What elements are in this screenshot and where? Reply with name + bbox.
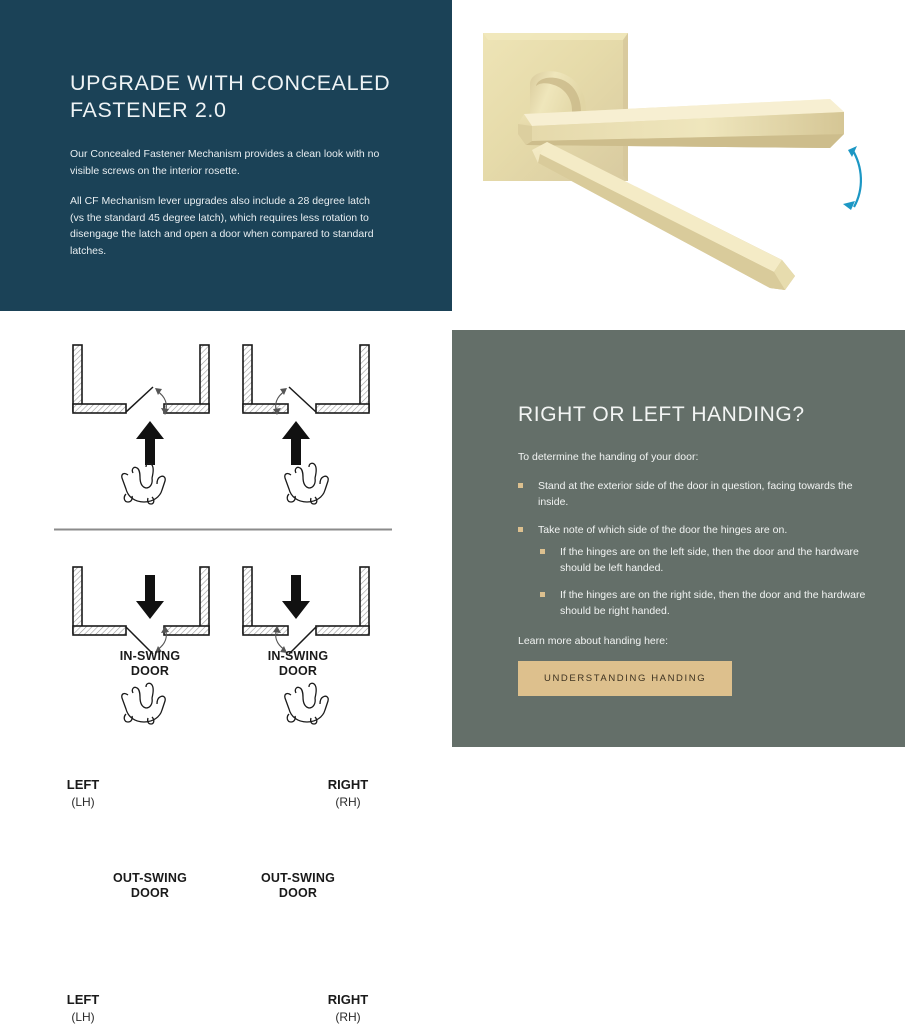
handle-photo-panel: 28° <box>452 0 905 311</box>
handing-step-1: Stand at the exterior side of the door i… <box>518 478 875 510</box>
outswing-left-side-label: LEFT <box>48 992 118 1007</box>
handing-substep-2-text: If the hinges are on the right side, the… <box>560 587 875 619</box>
outswing-left-code-label: (LH) <box>48 1010 118 1025</box>
angle-arrow-icon <box>852 149 861 207</box>
bullet-square-icon <box>518 527 523 532</box>
outswing-right-heading-line2: DOOR <box>279 886 317 900</box>
handing-lead: To determine the handing of your door: <box>518 449 875 465</box>
handing-step-2: Take note of which side of the door the … <box>518 522 875 619</box>
outswing-left-heading-line2: DOOR <box>131 886 169 900</box>
inswing-right-diagram <box>243 345 369 465</box>
door-handing-diagram-panel: IN-SWING DOOR IN-SWING DOOR LEFT (LH) RI… <box>0 311 452 747</box>
inswing-right-side-label: RIGHT <box>312 777 384 792</box>
concealed-fastener-paragraph-1: Our Concealed Fastener Mechanism provide… <box>70 146 385 179</box>
outswing-left-diagram <box>73 567 209 654</box>
handing-steps-list: Stand at the exterior side of the door i… <box>518 478 875 619</box>
outswing-right-code-label: (RH) <box>312 1010 384 1025</box>
handing-step-2-text: Take note of which side of the door the … <box>538 522 875 538</box>
door-swing-diagrams <box>0 311 452 747</box>
inswing-left-heading-line2: DOOR <box>131 664 169 678</box>
lever-handle-illustration <box>452 0 905 311</box>
hand-icon-left-inswing <box>122 463 165 504</box>
inswing-left-heading-line1: IN-SWING <box>120 649 181 663</box>
inswing-right-heading-line1: IN-SWING <box>268 649 329 663</box>
understanding-handing-button[interactable]: UNDERSTANDING HANDING <box>518 661 732 696</box>
handing-title: RIGHT OR LEFT HANDING? <box>518 402 875 428</box>
hand-icon-right-inswing <box>285 463 328 504</box>
handing-learn-more-text: Learn more about handing here: <box>518 633 875 649</box>
bullet-square-icon <box>540 592 545 597</box>
outswing-left-heading-line1: OUT-SWING <box>113 871 187 885</box>
handing-step-1-text: Stand at the exterior side of the door i… <box>538 478 875 510</box>
outswing-right-diagram <box>243 567 369 654</box>
bullet-square-icon <box>518 483 523 488</box>
handing-substep-1-text: If the hinges are on the left side, then… <box>560 544 875 576</box>
handing-panel: RIGHT OR LEFT HANDING? To determine the … <box>452 330 905 747</box>
handing-substep-2: If the hinges are on the right side, the… <box>538 587 875 619</box>
concealed-fastener-paragraph-2: All CF Mechanism lever upgrades also inc… <box>70 193 385 259</box>
bullet-square-icon <box>540 549 545 554</box>
outswing-right-heading-line1: OUT-SWING <box>261 871 335 885</box>
inswing-right-code-label: (RH) <box>312 795 384 810</box>
inswing-left-code-label: (LH) <box>48 795 118 810</box>
inswing-right-heading: IN-SWING DOOR <box>244 649 352 679</box>
lever-rotated-bar <box>532 142 795 290</box>
hand-icon-left-outswing <box>122 683 165 724</box>
handing-content: RIGHT OR LEFT HANDING? To determine the … <box>518 402 875 696</box>
inswing-right-heading-line2: DOOR <box>279 664 317 678</box>
page-root: UPGRADE WITH CONCEALED FASTENER 2.0 Our … <box>0 0 905 747</box>
outswing-right-side-label: RIGHT <box>312 992 384 1007</box>
hand-icon-right-outswing <box>285 683 328 724</box>
concealed-fastener-title: UPGRADE WITH CONCEALED FASTENER 2.0 <box>70 70 404 124</box>
inswing-left-side-label: LEFT <box>48 777 118 792</box>
handing-substeps-list: If the hinges are on the left side, then… <box>538 544 875 619</box>
inswing-left-heading: IN-SWING DOOR <box>96 649 204 679</box>
outswing-left-heading: OUT-SWING DOOR <box>90 871 210 901</box>
inswing-left-diagram <box>73 345 209 465</box>
handing-substep-1: If the hinges are on the left side, then… <box>538 544 875 576</box>
concealed-fastener-content: UPGRADE WITH CONCEALED FASTENER 2.0 Our … <box>70 70 404 259</box>
outswing-right-heading: OUT-SWING DOOR <box>238 871 358 901</box>
concealed-fastener-panel: UPGRADE WITH CONCEALED FASTENER 2.0 Our … <box>0 0 452 311</box>
